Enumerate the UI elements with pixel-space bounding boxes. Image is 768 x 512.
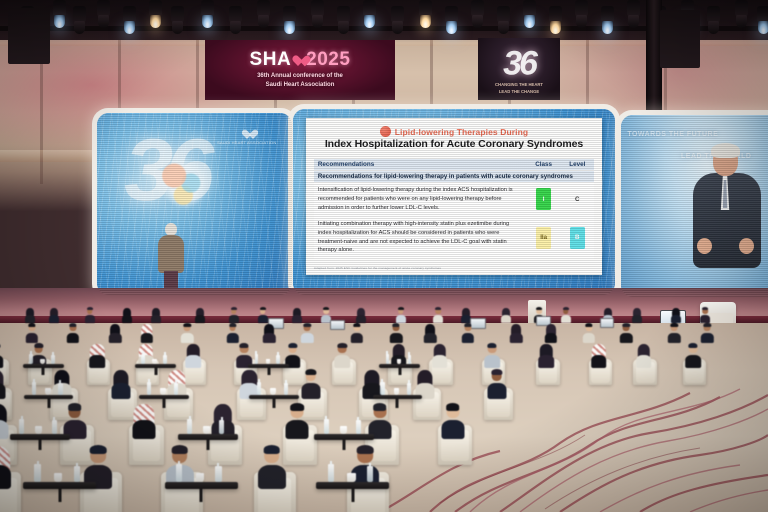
audience-hair bbox=[464, 323, 471, 327]
stage-light bbox=[390, 6, 405, 36]
recommendation-text: Intensification of lipid-lowering therap… bbox=[314, 182, 527, 216]
audience-hair bbox=[536, 307, 542, 310]
water-bottle bbox=[408, 355, 412, 364]
slide-title-line1: Lipid-lowering Therapies During bbox=[395, 127, 528, 137]
stage-light bbox=[122, 6, 137, 36]
stage-light bbox=[72, 6, 87, 36]
table-leg bbox=[200, 489, 203, 502]
table-leg bbox=[58, 489, 61, 502]
stage-light bbox=[756, 6, 768, 36]
audience-member bbox=[396, 308, 406, 323]
audience-member bbox=[539, 344, 555, 367]
audience-member bbox=[545, 324, 557, 343]
audience-member bbox=[583, 324, 595, 343]
slide-title-line2: Index Hospitalization for Acute Coronary… bbox=[314, 138, 594, 150]
water-bottle bbox=[163, 355, 167, 364]
audience-member bbox=[561, 308, 571, 323]
column-header-class: Class bbox=[527, 159, 561, 171]
table-row: Intensification of lipid-lowering therap… bbox=[314, 182, 594, 216]
level-badge: B bbox=[570, 227, 585, 249]
audience-torso bbox=[545, 333, 557, 343]
audience-torso bbox=[181, 333, 193, 343]
table-leg bbox=[154, 368, 157, 375]
audience-torso bbox=[390, 333, 402, 343]
audience-member bbox=[487, 370, 506, 399]
speaker-on-camera bbox=[691, 146, 763, 286]
audience-hair bbox=[184, 323, 191, 327]
audience-torso bbox=[301, 333, 313, 343]
heart-icon bbox=[292, 54, 305, 66]
coffee-cup bbox=[340, 426, 347, 434]
table-section-header-row: Recommendations for lipid-lowering thera… bbox=[314, 171, 594, 183]
audience-member bbox=[301, 370, 320, 399]
stage-light bbox=[496, 6, 511, 36]
audience-member bbox=[620, 324, 632, 343]
audience-torso bbox=[334, 355, 350, 368]
water-bottle bbox=[147, 382, 151, 394]
audience-torso bbox=[539, 355, 555, 368]
table-row: Initiating combination therapy with high… bbox=[314, 216, 594, 259]
right-screen-surface: TOWARDS THE FUTURE LEAD THE WORLD bbox=[621, 115, 768, 297]
audience-member bbox=[111, 370, 130, 399]
sha-subtitle-line1: 36th Annual conference of the bbox=[257, 72, 343, 81]
audience-member bbox=[356, 308, 366, 323]
sha-logo-year: 2025 bbox=[306, 50, 350, 69]
stage-light bbox=[734, 0, 749, 30]
audience-member bbox=[685, 344, 701, 367]
audience-member bbox=[700, 308, 710, 323]
water-bottle bbox=[141, 354, 145, 364]
water-bottle bbox=[386, 354, 390, 364]
stage-light bbox=[706, 6, 721, 36]
audience-hair bbox=[563, 307, 569, 310]
audience-member bbox=[133, 404, 156, 439]
audience-torso bbox=[636, 355, 652, 368]
audience-hair bbox=[689, 343, 698, 348]
audience-torso bbox=[432, 355, 448, 368]
audience-hair bbox=[240, 343, 249, 348]
stage-light bbox=[418, 0, 433, 30]
audience-hair bbox=[69, 323, 76, 327]
audience-torso bbox=[701, 333, 713, 343]
speaker-stack-right bbox=[660, 10, 700, 68]
audience-member bbox=[484, 344, 500, 367]
audience-member bbox=[632, 308, 642, 323]
water-bottle bbox=[219, 420, 224, 434]
coffee-cup bbox=[54, 473, 62, 483]
audience-hair bbox=[323, 307, 329, 310]
audience-torso bbox=[133, 420, 156, 439]
audience-torso bbox=[487, 383, 506, 399]
laptop bbox=[600, 318, 614, 328]
coffee-cup bbox=[394, 388, 400, 395]
coffee-cup bbox=[160, 388, 166, 395]
audience-hair bbox=[398, 307, 404, 310]
anniversary-banner: 36 CHANGING THE HEART LEAD THE CHANGE bbox=[478, 38, 560, 100]
audience-hair bbox=[28, 323, 35, 327]
audience-torso bbox=[433, 315, 443, 323]
audience-member bbox=[668, 324, 680, 343]
audience-member bbox=[591, 344, 607, 367]
speaker-stack-left bbox=[8, 8, 50, 64]
audience-member bbox=[181, 324, 193, 343]
stage-light bbox=[362, 0, 377, 30]
right-led-screen: TOWARDS THE FUTURE LEAD THE WORLD bbox=[616, 110, 768, 302]
water-bottle bbox=[257, 382, 261, 394]
audience-hair bbox=[171, 445, 188, 454]
coffee-cup bbox=[270, 388, 276, 395]
water-bottle bbox=[74, 466, 80, 483]
anniversary-tagline-line2: LEAD THE CHANGE bbox=[478, 89, 560, 95]
audience-torso bbox=[441, 420, 464, 439]
audience-torso bbox=[620, 333, 632, 343]
audience-member bbox=[258, 446, 286, 488]
table-leg bbox=[47, 399, 50, 408]
audience-torso bbox=[424, 333, 436, 343]
audience-member bbox=[351, 324, 363, 343]
water-bottle bbox=[58, 383, 62, 394]
audience-member bbox=[49, 308, 59, 323]
recommendations-table: Recommendations Class Level Recommendati… bbox=[314, 159, 594, 259]
audience-torso bbox=[501, 315, 511, 323]
audience-member bbox=[433, 308, 443, 323]
audience-hair bbox=[446, 403, 460, 411]
audience-seating bbox=[0, 300, 768, 512]
water-bottle bbox=[255, 354, 259, 364]
water-bottle bbox=[215, 466, 221, 483]
audience-member bbox=[109, 324, 121, 343]
audience-hair bbox=[304, 323, 311, 327]
audience-member bbox=[432, 344, 448, 367]
audience-member bbox=[25, 308, 35, 323]
stage-light bbox=[256, 0, 271, 30]
column-header-level: Level bbox=[560, 159, 594, 171]
audience-member bbox=[89, 344, 105, 367]
recommendation-text: Initiating combination therapy with high… bbox=[314, 216, 527, 259]
audience-hair bbox=[229, 323, 236, 327]
table-leg bbox=[343, 440, 346, 450]
audience-torso bbox=[685, 355, 701, 368]
stage-light bbox=[522, 0, 537, 30]
table-leg bbox=[206, 440, 209, 450]
audience-torso bbox=[195, 315, 205, 323]
left-screen-surface: 36 SAUDI HEART ASSOCIATION bbox=[97, 113, 292, 295]
audience-torso bbox=[484, 355, 500, 368]
audience-member bbox=[229, 308, 239, 323]
center-screen-surface: Lipid-lowering Therapies During Index Ho… bbox=[293, 109, 615, 295]
audience-torso bbox=[583, 333, 595, 343]
audience-torso bbox=[351, 333, 363, 343]
audience-torso bbox=[668, 333, 680, 343]
stage-light bbox=[548, 6, 563, 36]
audience-torso bbox=[396, 315, 406, 323]
water-bottle bbox=[34, 464, 40, 482]
stage-light bbox=[52, 0, 67, 30]
coffee-cup bbox=[45, 388, 51, 395]
cocktail-table bbox=[23, 482, 96, 489]
audience-member bbox=[334, 344, 350, 367]
audience-hair bbox=[491, 369, 502, 375]
audience-member bbox=[286, 404, 309, 439]
stage-light bbox=[228, 6, 243, 36]
audience-member bbox=[510, 324, 522, 343]
class-badge: I bbox=[536, 188, 551, 210]
audience-hair bbox=[671, 323, 678, 327]
water-bottle bbox=[174, 383, 178, 394]
audience-member bbox=[263, 324, 275, 343]
audience-hair bbox=[87, 307, 93, 310]
audience-torso bbox=[26, 333, 38, 343]
audience-torso bbox=[462, 333, 474, 343]
stage-light bbox=[200, 0, 215, 30]
audience-member bbox=[390, 324, 402, 343]
audience-torso bbox=[111, 383, 130, 399]
sha-watermark: SAUDI HEART ASSOCIATION bbox=[217, 128, 276, 145]
audience-hair bbox=[288, 343, 297, 348]
audience-member bbox=[671, 308, 681, 323]
table-header-row: Recommendations Class Level bbox=[314, 159, 594, 171]
audience-hair bbox=[338, 343, 347, 348]
slide-footnote: Adapted from: 2025 ESC Guidelines for th… bbox=[314, 266, 441, 270]
table-leg bbox=[398, 368, 401, 375]
audience-member bbox=[0, 344, 3, 367]
water-bottle bbox=[29, 354, 33, 364]
esc-logo-badge-icon bbox=[380, 126, 391, 137]
audience-torso bbox=[258, 315, 268, 323]
table-leg bbox=[351, 489, 354, 502]
coffee-cup bbox=[196, 473, 204, 483]
audience-member bbox=[122, 308, 132, 323]
audience-torso bbox=[286, 420, 309, 439]
sha-logo-text: SHA bbox=[250, 50, 292, 69]
table-leg bbox=[39, 440, 42, 450]
audience-member bbox=[226, 324, 238, 343]
audience-torso bbox=[292, 315, 302, 323]
audience-torso bbox=[89, 355, 105, 368]
laptop bbox=[330, 320, 345, 330]
audience-torso bbox=[0, 465, 11, 489]
stage-light bbox=[96, 0, 111, 30]
audience-member bbox=[292, 308, 302, 323]
audience-torso bbox=[510, 333, 522, 343]
camera-overlay-text-top: TOWARDS THE FUTURE bbox=[627, 131, 718, 138]
audience-hair bbox=[585, 323, 592, 327]
audience-torso bbox=[301, 383, 320, 399]
column-header-recommendations: Recommendations bbox=[314, 159, 527, 171]
stage-light bbox=[148, 0, 163, 30]
audience-member bbox=[151, 308, 161, 323]
sha-watermark-label: SAUDI HEART ASSOCIATION bbox=[217, 140, 276, 145]
speaker-hair bbox=[711, 143, 740, 158]
left-led-screen: 36 SAUDI HEART ASSOCIATION bbox=[92, 108, 297, 300]
audience-torso bbox=[151, 315, 161, 323]
audience-torso bbox=[356, 315, 366, 323]
stage-light bbox=[336, 6, 351, 36]
audience-member bbox=[501, 308, 511, 323]
audience-member bbox=[301, 324, 313, 343]
audience-member bbox=[462, 324, 474, 343]
stage-light bbox=[574, 0, 589, 30]
anatomical-heart-icon bbox=[151, 149, 217, 218]
audience-member bbox=[441, 404, 464, 439]
coffee-cup bbox=[347, 473, 355, 483]
audience-torso bbox=[226, 333, 238, 343]
audience-hair bbox=[392, 323, 399, 327]
water-bottle bbox=[52, 420, 57, 434]
stage-light bbox=[310, 0, 325, 30]
audience-member bbox=[636, 344, 652, 367]
stage-light bbox=[600, 6, 615, 36]
audience-member bbox=[26, 324, 38, 343]
anniversary-number: 36 bbox=[503, 45, 535, 84]
presenter-on-stage bbox=[156, 223, 186, 295]
sha-banner-subtitle: 36th Annual conference of the Saudi Hear… bbox=[257, 72, 343, 89]
level-badge: C bbox=[570, 188, 585, 210]
audience-torso bbox=[122, 315, 132, 323]
water-bottle bbox=[356, 420, 361, 434]
heart-icon bbox=[241, 128, 253, 139]
audience-hair bbox=[357, 445, 374, 454]
audience-torso bbox=[229, 315, 239, 323]
conference-hall-photo: SHA 2025 36th Annual conference of the S… bbox=[0, 0, 768, 512]
water-bottle bbox=[367, 466, 373, 483]
water-bottle bbox=[176, 464, 182, 482]
presenter-jacket bbox=[158, 235, 184, 273]
table-leg bbox=[273, 399, 276, 408]
audience-hair bbox=[68, 403, 82, 411]
audience-hair bbox=[704, 323, 711, 327]
audience-torso bbox=[591, 355, 607, 368]
audience-torso bbox=[263, 333, 275, 343]
speaker-hand-right bbox=[739, 238, 754, 254]
audience-member bbox=[67, 324, 79, 343]
stage-light bbox=[170, 6, 185, 36]
water-bottle bbox=[19, 419, 24, 434]
audience-hair bbox=[305, 369, 316, 375]
audience-torso bbox=[700, 315, 710, 323]
sha-subtitle-line2: Saudi Heart Association bbox=[257, 81, 343, 90]
audience-torso bbox=[85, 315, 95, 323]
audience-member bbox=[140, 324, 152, 343]
audience-torso bbox=[258, 465, 286, 489]
water-bottle bbox=[187, 419, 192, 434]
audience-torso bbox=[0, 420, 9, 439]
slide-title-row: Lipid-lowering Therapies During bbox=[314, 126, 594, 137]
coffee-cup bbox=[203, 426, 210, 434]
audience-member bbox=[195, 308, 205, 323]
water-bottle bbox=[276, 355, 280, 364]
audience-member bbox=[0, 404, 9, 439]
stage-light bbox=[626, 0, 641, 30]
audience-hair bbox=[373, 403, 387, 411]
cocktail-table bbox=[316, 482, 389, 489]
audience-hair bbox=[291, 403, 305, 411]
stage-light bbox=[470, 0, 485, 30]
audience-member bbox=[258, 308, 268, 323]
speaker-hand-left bbox=[697, 238, 712, 254]
table-leg bbox=[163, 399, 166, 408]
audience-torso bbox=[67, 333, 79, 343]
audience-hair bbox=[487, 343, 496, 348]
water-bottle bbox=[324, 419, 329, 434]
audience-torso bbox=[0, 355, 3, 368]
water-bottle bbox=[32, 382, 36, 394]
water-bottle bbox=[284, 383, 288, 394]
audience-torso bbox=[140, 333, 152, 343]
cocktail-table bbox=[165, 482, 238, 489]
coffee-cup bbox=[35, 426, 42, 434]
water-bottle bbox=[51, 355, 55, 364]
audience-member bbox=[185, 344, 201, 367]
audience-torso bbox=[632, 315, 642, 323]
stage-light bbox=[282, 6, 297, 36]
table-section-header: Recommendations for lipid-lowering thera… bbox=[314, 171, 594, 183]
audience-hair bbox=[231, 307, 237, 310]
sha-event-banner: SHA 2025 36th Annual conference of the S… bbox=[205, 40, 395, 100]
table-leg bbox=[396, 399, 399, 408]
table-leg bbox=[267, 368, 270, 375]
audience-torso bbox=[561, 315, 571, 323]
audience-member bbox=[0, 446, 11, 488]
audience-member bbox=[701, 324, 713, 343]
audience-member bbox=[424, 324, 436, 343]
center-led-screen: Lipid-lowering Therapies During Index Ho… bbox=[288, 104, 620, 300]
audience-hair bbox=[90, 445, 107, 454]
class-badge: IIa bbox=[536, 227, 551, 249]
audience-hair bbox=[260, 307, 266, 310]
audience-torso bbox=[185, 355, 201, 368]
audience-torso bbox=[25, 315, 35, 323]
audience-hair bbox=[34, 343, 43, 348]
audience-hair bbox=[623, 323, 630, 327]
presentation-slide: Lipid-lowering Therapies During Index Ho… bbox=[306, 118, 602, 274]
audience-hair bbox=[703, 307, 709, 310]
audience-torso bbox=[0, 383, 6, 399]
anniversary-tagline: CHANGING THE HEART LEAD THE CHANGE bbox=[478, 82, 560, 95]
water-bottle bbox=[380, 382, 384, 394]
table-leg bbox=[42, 368, 45, 375]
audience-member bbox=[0, 370, 6, 399]
audience-hair bbox=[436, 307, 442, 310]
sha-logo: SHA 2025 bbox=[250, 50, 351, 69]
audience-member bbox=[85, 308, 95, 323]
audience-hair bbox=[263, 445, 280, 454]
stage-light bbox=[444, 6, 459, 36]
audience-hair bbox=[353, 323, 360, 327]
audience-torso bbox=[671, 315, 681, 323]
audience-torso bbox=[49, 315, 59, 323]
water-bottle bbox=[407, 383, 411, 394]
audience-torso bbox=[109, 333, 121, 343]
water-bottle bbox=[328, 464, 334, 482]
